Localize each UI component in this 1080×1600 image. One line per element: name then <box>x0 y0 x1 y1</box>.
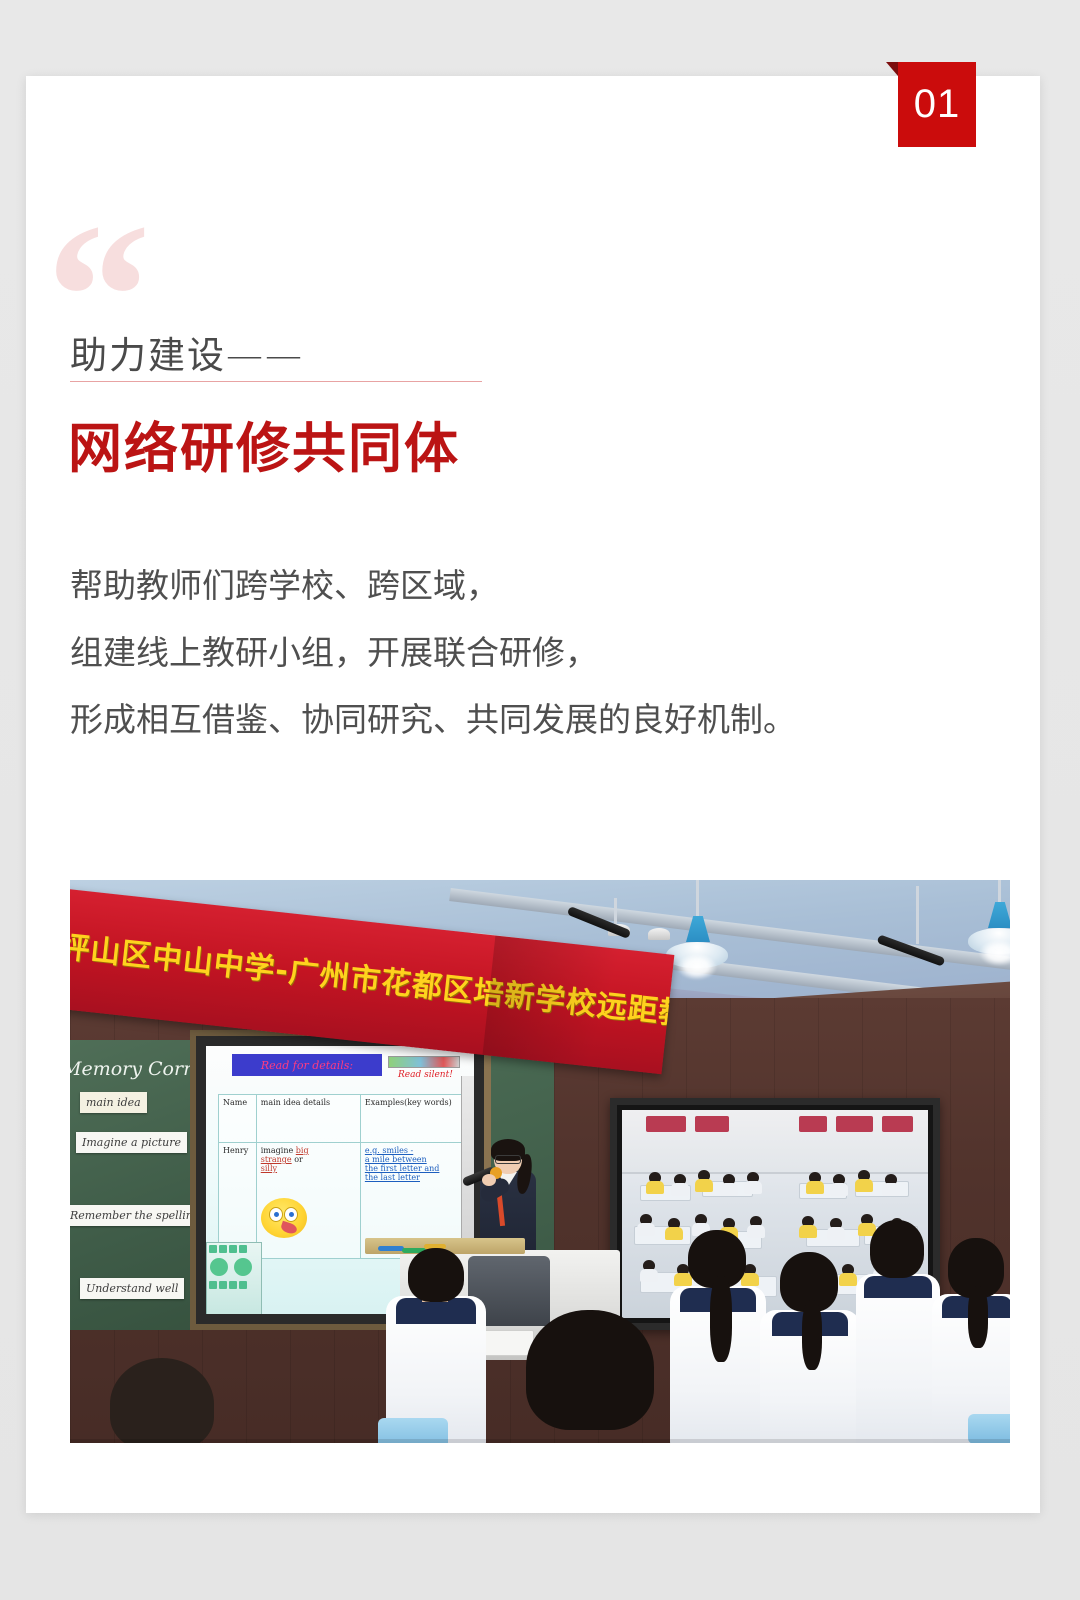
table-header-cell: Examples(key words) <box>361 1095 465 1142</box>
badge-number: 01 <box>898 62 976 147</box>
feed-student <box>720 1174 738 1196</box>
student-body <box>827 1227 845 1240</box>
table-header-row: Name main idea details Examples(key word… <box>219 1095 465 1143</box>
body-line-1: 帮助教师们跨学校、跨区域， <box>70 552 980 619</box>
lamp-glow <box>677 954 717 980</box>
table-header-cell: main idea details <box>257 1095 361 1142</box>
toolbar-round-icon[interactable] <box>234 1258 252 1276</box>
detail-word: strange <box>261 1155 292 1164</box>
pendant-lamp <box>968 880 1010 966</box>
student-head <box>526 1310 654 1430</box>
feed-student <box>855 1170 873 1192</box>
student-foreground <box>932 1238 1010 1443</box>
section-number-badge: 01 <box>898 62 976 147</box>
student-foreground <box>856 1220 940 1443</box>
detail-word: imagine <box>261 1146 293 1155</box>
sensor-dome <box>648 928 670 940</box>
toolbar-button-icon[interactable] <box>239 1281 247 1289</box>
student-foreground <box>760 1252 860 1443</box>
smiley-face-icon <box>261 1198 307 1238</box>
student-ponytail <box>710 1276 732 1362</box>
page-title: 网络研修共同体 <box>68 404 460 483</box>
glasses-icon <box>495 1155 521 1164</box>
toolbar-button-icon[interactable] <box>209 1245 217 1253</box>
toolbar-row <box>207 1279 261 1291</box>
toolbar-row <box>207 1243 261 1255</box>
student-body <box>856 1274 940 1443</box>
student-body <box>830 1183 848 1196</box>
student-body <box>799 1225 817 1238</box>
student-ponytail <box>968 1286 988 1348</box>
student-ponytail <box>802 1300 822 1370</box>
poster-page: 01 “ 助力建设—— 网络研修共同体 帮助教师们跨学校、跨区域， 组建线上教研… <box>0 0 1080 1600</box>
feed-student <box>640 1260 662 1286</box>
detail-word: or <box>294 1155 303 1164</box>
lamp-rod <box>696 880 699 916</box>
student-body <box>882 1183 900 1196</box>
example-line: the last letter <box>365 1173 420 1182</box>
example-line: e.g. smiles - <box>365 1146 413 1155</box>
emoji-pupil <box>289 1212 294 1217</box>
feed-student <box>637 1214 657 1238</box>
whiteboard-side-toolbar[interactable] <box>206 1242 262 1314</box>
student-head <box>408 1248 464 1302</box>
student-head <box>870 1220 924 1278</box>
blackboard-card: Understand well <box>80 1278 184 1299</box>
student-body <box>640 1269 658 1282</box>
slide-heading: Read for details: <box>232 1054 382 1076</box>
lamp-rod <box>998 880 1001 902</box>
feed-student <box>799 1216 819 1240</box>
hanging-microphone <box>870 886 960 955</box>
feed-cabinet <box>836 1116 873 1132</box>
classroom-photo: Memory Corner main idea Imagine a pictur… <box>70 880 1010 1443</box>
detail-word: big <box>296 1146 309 1155</box>
toolbar-button-icon[interactable] <box>219 1281 227 1289</box>
toolbar-button-icon[interactable] <box>219 1245 227 1253</box>
mic-rod <box>614 898 617 924</box>
toolbar-row <box>207 1255 261 1279</box>
blackboard-card: Imagine a picture <box>76 1132 187 1153</box>
student-body <box>637 1223 655 1236</box>
feed-student <box>646 1172 664 1194</box>
body-paragraph: 帮助教师们跨学校、跨区域， 组建线上教研小组，开展联合研修， 形成相互借鉴、协同… <box>70 552 980 753</box>
lamp-cone <box>686 916 710 942</box>
example-line: the first letter and <box>365 1164 440 1173</box>
emoji-eye <box>284 1207 298 1222</box>
toolbar-button-icon[interactable] <box>239 1245 247 1253</box>
student-body <box>806 1181 824 1194</box>
slide-silent-note: Read silent! <box>398 1070 453 1080</box>
teacher-hand <box>482 1174 496 1186</box>
student-foreground <box>670 1230 766 1443</box>
badge-fold-corner <box>886 62 898 76</box>
student-body <box>646 1181 664 1194</box>
blackboard-card: Remember the spelling <box>70 1205 206 1226</box>
student-body <box>720 1183 738 1196</box>
body-line-2: 组建线上教研小组，开展联合研修， <box>70 619 980 686</box>
student-body <box>744 1181 762 1194</box>
student-head <box>110 1358 214 1443</box>
body-line-3: 形成相互借鉴、协同研究、共同发展的良好机制。 <box>70 686 980 753</box>
lamp-cone <box>988 902 1010 928</box>
lamp-glow <box>979 940 1010 966</box>
toolbar-round-icon[interactable] <box>210 1258 228 1276</box>
feed-cabinet <box>695 1116 729 1132</box>
detail-word: silly <box>261 1164 277 1173</box>
emoji-eye <box>269 1207 283 1222</box>
feed-cabinet <box>882 1116 913 1132</box>
feed-cabinet <box>646 1116 686 1132</box>
feed-student <box>695 1170 713 1192</box>
feed-student <box>827 1218 847 1242</box>
feed-back-wall <box>622 1110 928 1174</box>
hanging-microphone <box>570 898 650 927</box>
student-body <box>855 1179 873 1192</box>
feed-student <box>882 1174 900 1196</box>
heading-divider <box>70 381 482 382</box>
emoji-pupil <box>274 1212 279 1217</box>
section-subtitle: 助力建设—— <box>70 325 304 379</box>
student-body <box>695 1179 713 1192</box>
slide-table: Name main idea details Examples(key word… <box>218 1094 466 1259</box>
table-header-cell: Name <box>219 1095 257 1142</box>
feed-student <box>806 1172 824 1194</box>
student-collar <box>864 1276 932 1298</box>
toolbar-button-icon[interactable] <box>229 1245 237 1253</box>
student-foreground <box>110 1358 220 1443</box>
ceiling-sensor <box>640 928 680 940</box>
feed-cabinet <box>799 1116 827 1132</box>
blackboard-card: main idea <box>80 1092 147 1113</box>
toolbar-button-icon[interactable] <box>209 1281 217 1289</box>
banner-shadow-fold <box>482 936 674 1075</box>
feed-student <box>830 1174 848 1196</box>
toolbar-button-icon[interactable] <box>229 1281 237 1289</box>
feed-student <box>671 1174 689 1196</box>
student-foreground <box>386 1248 486 1443</box>
example-line: a mile between <box>365 1155 427 1164</box>
photo-bottom-edge <box>70 1439 1010 1443</box>
student-body <box>671 1183 689 1196</box>
slide-toolbar <box>388 1056 460 1068</box>
student-foreground <box>526 1310 676 1443</box>
feed-student <box>744 1172 762 1194</box>
mic-rod <box>916 886 919 944</box>
emoji-tongue <box>280 1221 298 1235</box>
